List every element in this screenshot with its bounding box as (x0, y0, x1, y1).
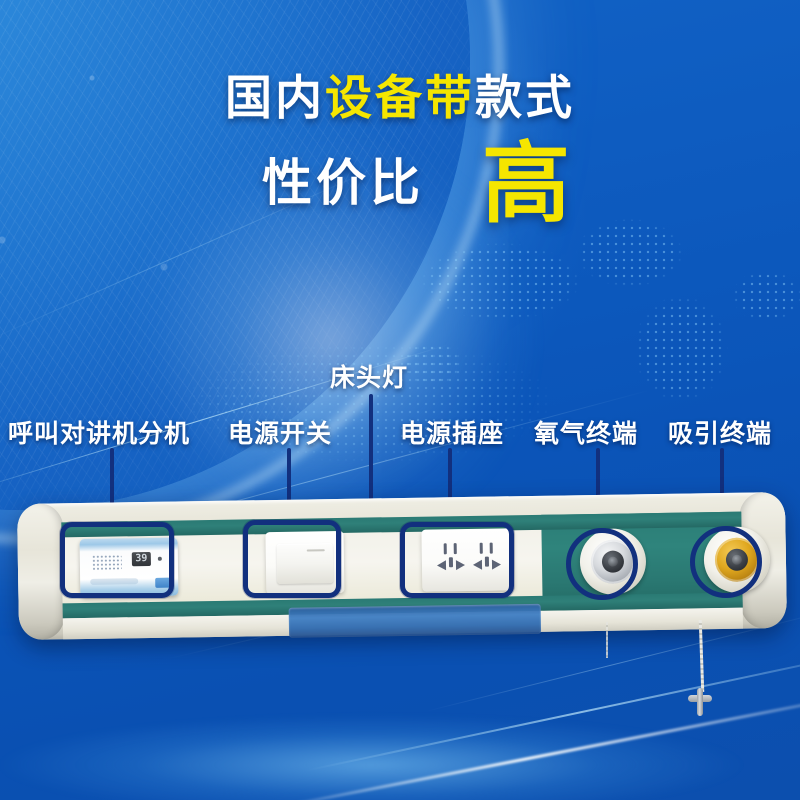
bottom-light-glow (0, 690, 800, 800)
dotted-world-map-secondary (150, 320, 670, 490)
callout-label-intercom: 呼叫对讲机分机 (8, 414, 190, 450)
callout-label-oxygen-terminal: 氧气终端 (534, 414, 638, 450)
callout-label-suction-terminal: 吸引终端 (668, 414, 772, 450)
callout-label-bed-lamp: 床头灯 (330, 358, 408, 394)
callout-label-power-switch: 电源开关 (228, 414, 332, 450)
annotation-circle-oxygen-terminal (566, 528, 638, 600)
unit-end-cap-left (17, 503, 65, 640)
pull-cord-secondary (606, 622, 608, 658)
annotation-box-intercom (60, 522, 174, 598)
hook-shaft (697, 688, 703, 716)
cross-hook-icon (688, 688, 712, 716)
bed-lamp-diffuser[interactable] (289, 604, 541, 638)
banner-canvas: 国内设备带款式 性价比 高 呼叫对讲机分机 电源开关 床头灯 电源插座 氧气终端… (0, 0, 800, 800)
callout-label-power-socket: 电源插座 (400, 414, 504, 450)
annotation-circle-suction-terminal (690, 526, 762, 598)
annotation-box-power-socket (400, 522, 514, 598)
annotation-box-power-switch (243, 520, 341, 598)
